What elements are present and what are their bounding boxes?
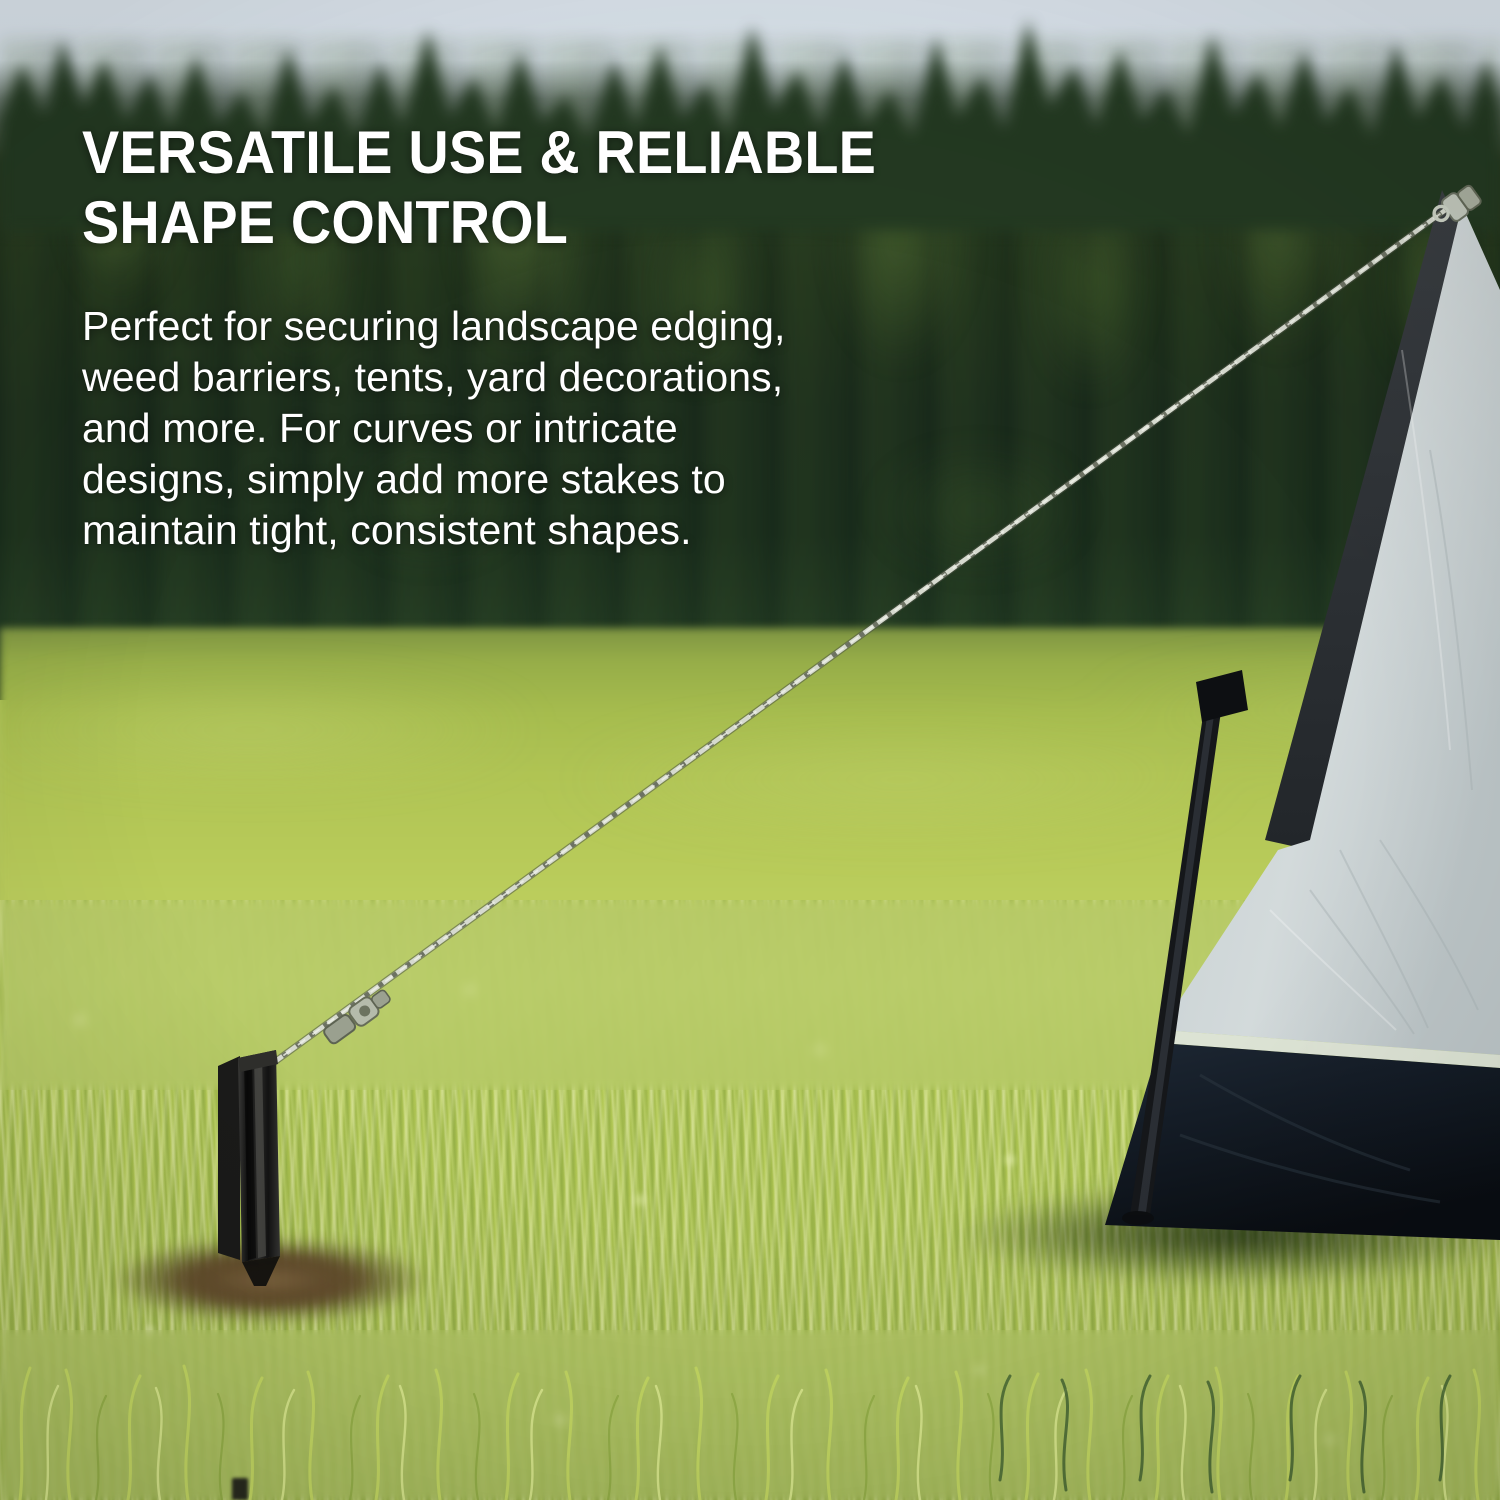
body-text: Perfect for securing landscape edging, w…	[82, 257, 822, 556]
page-title: VERSATILE USE & RELIABLE SHAPE CONTROL	[82, 118, 947, 257]
headline-line-1: VERSATILE USE & RELIABLE	[82, 119, 876, 186]
foreground-grass-blades	[0, 1180, 1500, 1500]
copy-block: VERSATILE USE & RELIABLE SHAPE CONTROL P…	[82, 118, 1012, 556]
headline-line-2: SHAPE CONTROL	[82, 189, 568, 256]
product-feature-image: VERSATILE USE & RELIABLE SHAPE CONTROL P…	[0, 0, 1500, 1500]
camping-tent	[1010, 150, 1500, 1270]
